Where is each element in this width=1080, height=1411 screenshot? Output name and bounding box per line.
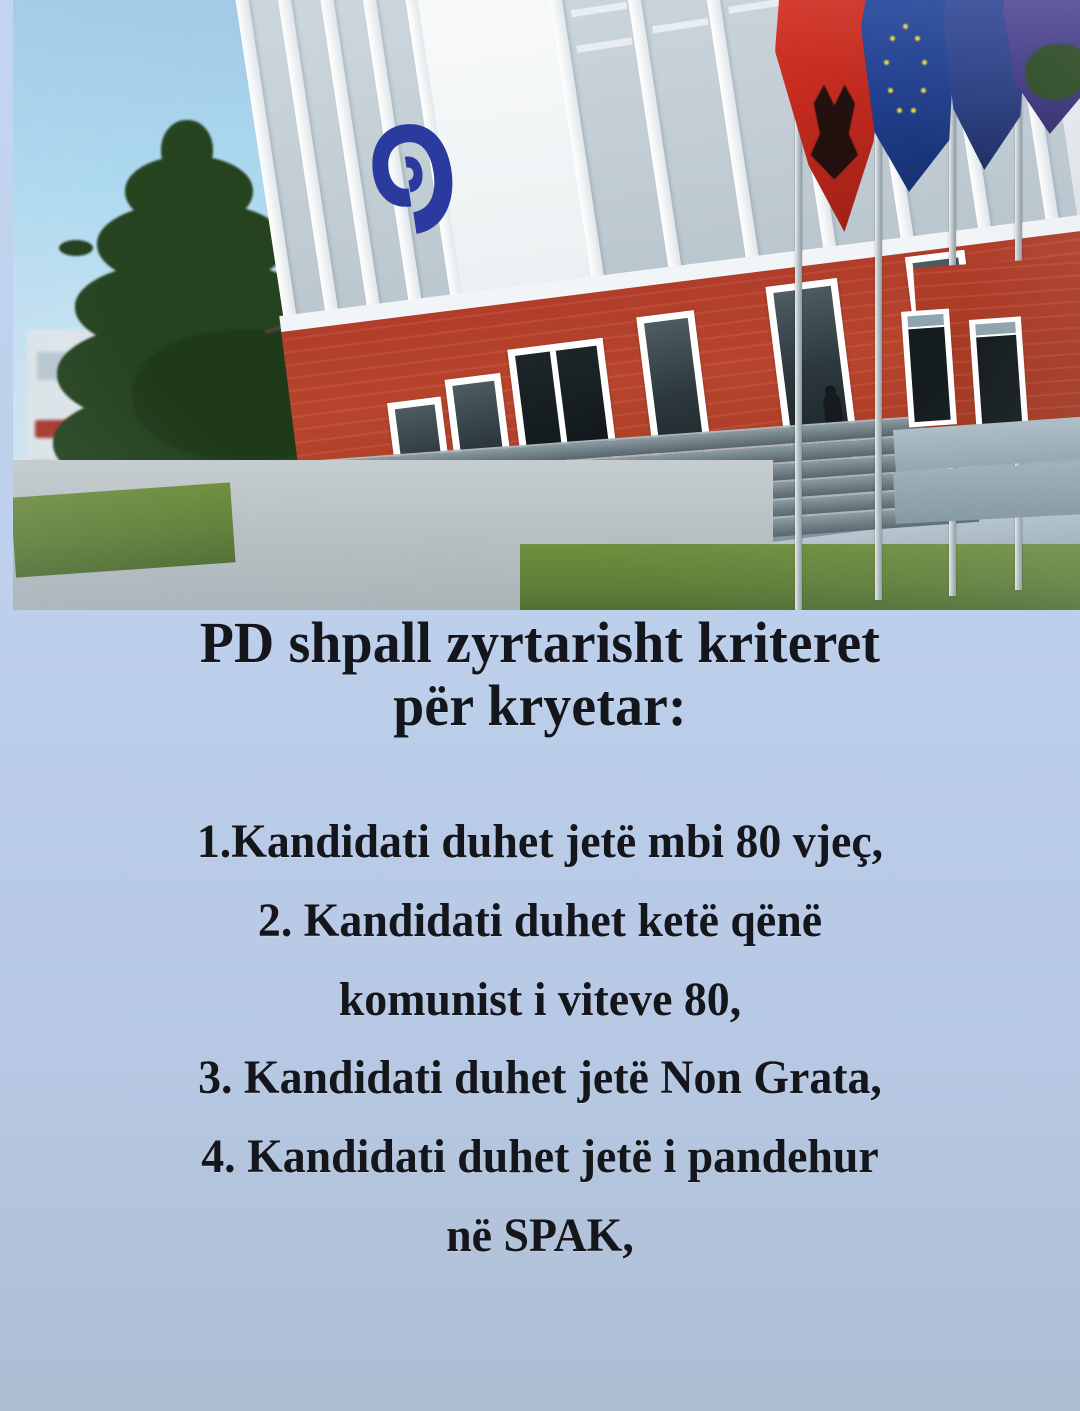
- criteria-item-2-cont: komunist i viteve 80,: [47, 961, 1033, 1040]
- poster-root: PD shpall zyrtarisht kriteret për kryeta…: [0, 0, 1080, 1411]
- criteria-item-3: 3. Kandidati duhet jetë Non Grata,: [47, 1039, 1033, 1118]
- albanian-eagle-emblem: [809, 84, 861, 179]
- right-plinth-lower: [893, 462, 1080, 524]
- pd-logo-icon: [360, 114, 463, 244]
- criteria-item-1: 1.Kandidati duhet jetë mbi 80 vjeç,: [47, 803, 1033, 882]
- title-line-1: PD shpall zyrtarisht kriteret: [200, 610, 880, 675]
- criteria-item-4-cont: në SPAK,: [47, 1197, 1033, 1276]
- title-list-spacer: [0, 737, 1080, 803]
- lawn-left: [13, 482, 236, 577]
- title-line-2: për kryetar:: [60, 675, 1020, 738]
- criteria-item-4: 4. Kandidati duhet jetë i pandehur: [47, 1118, 1033, 1197]
- olive-foliage: [1025, 44, 1080, 100]
- header-photo: [13, 0, 1080, 610]
- photo-canvas: [13, 0, 1080, 610]
- criteria-item-2: 2. Kandidati duhet ketë qënë: [47, 882, 1033, 961]
- caption-block: PD shpall zyrtarisht kriteret për kryeta…: [0, 612, 1080, 1411]
- page-title: PD shpall zyrtarisht kriteret për kryeta…: [22, 612, 1059, 737]
- window: [901, 308, 957, 427]
- criteria-list: 1.Kandidati duhet jetë mbi 80 vjeç, 2. K…: [0, 803, 1080, 1275]
